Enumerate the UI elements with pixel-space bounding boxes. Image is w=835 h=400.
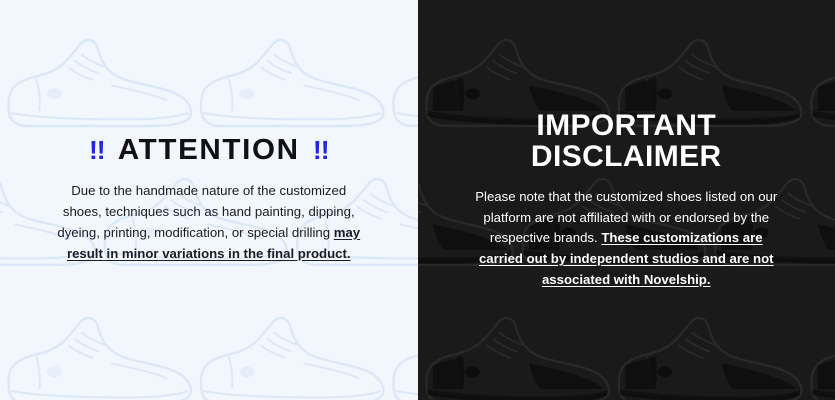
disclaimer-banner: !! ATTENTION !! Due to the handmade natu… xyxy=(0,0,835,400)
attention-body: Due to the handmade nature of the custom… xyxy=(53,181,365,264)
attention-body-plain: Due to the handmade nature of the custom… xyxy=(57,183,354,240)
disclaimer-content: IMPORTANT DISCLAIMER Please note that th… xyxy=(418,110,835,290)
disclaimer-panel: IMPORTANT DISCLAIMER Please note that th… xyxy=(418,0,835,400)
disclaimer-heading: IMPORTANT DISCLAIMER xyxy=(442,110,812,172)
disclaimer-heading-line-1: IMPORTANT xyxy=(442,110,812,141)
attention-panel: !! ATTENTION !! Due to the handmade natu… xyxy=(0,0,418,400)
disclaimer-heading-line-2: DISCLAIMER xyxy=(442,141,812,172)
exclamation-right-icon: !! xyxy=(313,136,329,165)
exclamation-left-icon: !! xyxy=(89,136,105,165)
attention-heading: !! ATTENTION !! xyxy=(20,135,397,167)
attention-heading-text: ATTENTION xyxy=(118,135,300,167)
attention-content: !! ATTENTION !! Due to the handmade natu… xyxy=(0,135,418,264)
disclaimer-body: Please note that the customized shoes li… xyxy=(467,187,785,290)
